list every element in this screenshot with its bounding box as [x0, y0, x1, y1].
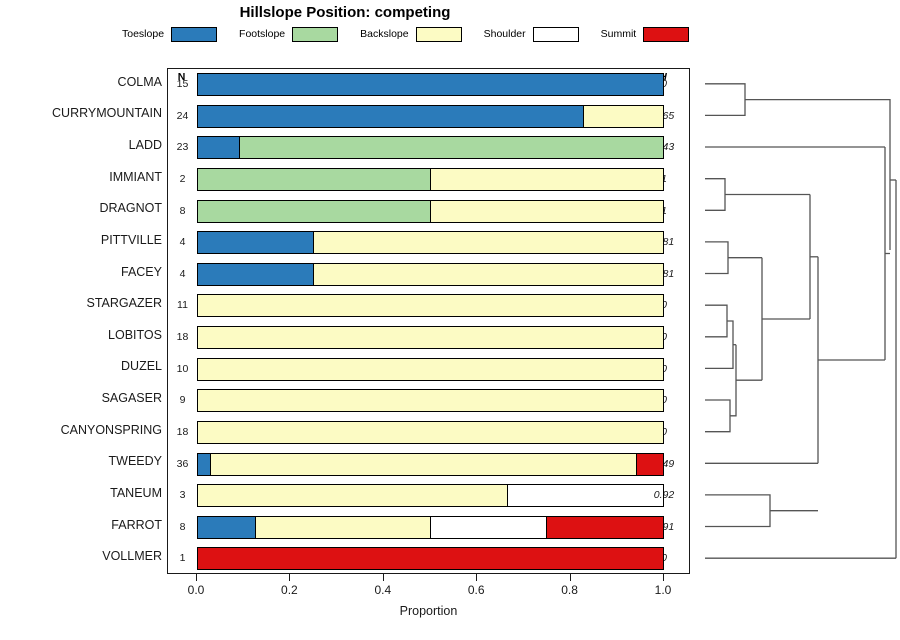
stacked-bar[interactable]: [197, 358, 664, 381]
bar-row: 90: [168, 385, 691, 417]
row-n-value: 3: [171, 489, 194, 501]
x-axis-tick: [570, 574, 571, 581]
bar-segment[interactable]: [198, 201, 431, 222]
legend-swatch: [643, 27, 689, 42]
stacked-bar[interactable]: [197, 231, 664, 254]
dendrogram-svg: [700, 60, 900, 580]
legend: ToeslopeFootslopeBackslopeShoulderSummit: [122, 24, 692, 44]
dendrogram: [700, 60, 900, 580]
bar-segment[interactable]: [431, 517, 547, 538]
y-axis-label: LADD: [0, 138, 162, 152]
x-axis-tick-label: 0.6: [451, 583, 501, 597]
stacked-bar[interactable]: [197, 105, 664, 128]
bar-segment[interactable]: [431, 201, 664, 222]
bar-segment[interactable]: [211, 454, 637, 475]
y-axis-label: TWEEDY: [0, 454, 162, 468]
bar-segment[interactable]: [198, 327, 663, 348]
stacked-bar[interactable]: [197, 294, 664, 317]
x-axis-tick: [196, 574, 197, 581]
bar-row: 180: [168, 322, 691, 354]
legend-swatch: [292, 27, 338, 42]
stacked-bar[interactable]: [197, 263, 664, 286]
bar-row: 30.92: [168, 480, 691, 512]
x-axis-title: Proportion: [167, 604, 690, 618]
legend-item: Summit: [601, 27, 690, 42]
bar-segment[interactable]: [198, 390, 663, 411]
row-n-value: 15: [171, 78, 194, 90]
legend-item: Toeslope: [122, 27, 217, 42]
y-axis-label: FACEY: [0, 265, 162, 279]
bar-segment[interactable]: [198, 137, 240, 158]
x-axis-tick: [383, 574, 384, 581]
bar-row: 10: [168, 543, 691, 575]
row-n-value: 8: [171, 205, 194, 217]
bar-segment[interactable]: [547, 517, 663, 538]
y-axis-label: SAGASER: [0, 391, 162, 405]
legend-swatch: [416, 27, 462, 42]
plot-panel: 150240.65230.43218140.8140.8111018010090…: [167, 68, 690, 574]
page-title: Hillslope Position: competing: [0, 4, 690, 21]
row-n-value: 23: [171, 141, 194, 153]
row-n-value: 8: [171, 521, 194, 533]
bar-row: 81.91: [168, 512, 691, 544]
bar-row: 21: [168, 164, 691, 196]
stacked-bar[interactable]: [197, 516, 664, 539]
y-axis-label: IMMIANT: [0, 170, 162, 184]
stacked-bar[interactable]: [197, 453, 664, 476]
chart-root: Hillslope Position: competing ToeslopeFo…: [0, 0, 900, 640]
x-axis-tick-label: 0.4: [358, 583, 408, 597]
row-n-value: 4: [171, 236, 194, 248]
stacked-bar[interactable]: [197, 136, 664, 159]
row-n-value: 1: [171, 552, 194, 564]
bar-segment[interactable]: [314, 264, 663, 285]
y-axis-label: CANYONSPRING: [0, 423, 162, 437]
stacked-bar[interactable]: [197, 547, 664, 570]
bar-segment[interactable]: [198, 485, 508, 506]
x-axis-tick-label: 0.0: [171, 583, 221, 597]
stacked-bar[interactable]: [197, 484, 664, 507]
bar-segment[interactable]: [198, 359, 663, 380]
row-n-value: 18: [171, 426, 194, 438]
bar-segment[interactable]: [584, 106, 663, 127]
bar-segment[interactable]: [198, 169, 431, 190]
bar-segment[interactable]: [198, 548, 663, 569]
y-axis-label: DRAGNOT: [0, 201, 162, 215]
row-n-value: 18: [171, 331, 194, 343]
y-axis-label: FARROT: [0, 518, 162, 532]
x-axis-tick: [663, 574, 664, 581]
row-n-value: 11: [171, 299, 194, 311]
stacked-bar[interactable]: [197, 168, 664, 191]
bar-segment[interactable]: [508, 485, 663, 506]
stacked-bar[interactable]: [197, 200, 664, 223]
y-axis-label: COLMA: [0, 75, 162, 89]
bar-segment[interactable]: [198, 517, 256, 538]
bar-row: 40.81: [168, 227, 691, 259]
y-axis-label: STARGAZER: [0, 296, 162, 310]
row-n-value: 2: [171, 173, 194, 185]
legend-item-label: Footslope: [239, 28, 285, 40]
bar-segment[interactable]: [431, 169, 664, 190]
bar-segment[interactable]: [637, 454, 663, 475]
row-n-value: 36: [171, 458, 194, 470]
legend-item: Footslope: [239, 27, 338, 42]
bar-segment[interactable]: [198, 422, 663, 443]
bar-row: 360.49: [168, 449, 691, 481]
y-axis-label: VOLLMER: [0, 549, 162, 563]
stacked-bar[interactable]: [197, 73, 664, 96]
legend-item-label: Shoulder: [484, 28, 526, 40]
y-axis-labels: COLMACURRYMOUNTAINLADDIMMIANTDRAGNOTPITT…: [0, 68, 162, 574]
legend-item-label: Backslope: [360, 28, 408, 40]
bar-segment[interactable]: [198, 232, 314, 253]
bar-segment[interactable]: [198, 454, 211, 475]
legend-item-label: Toeslope: [122, 28, 164, 40]
bar-row: 180: [168, 417, 691, 449]
legend-swatch: [171, 27, 217, 42]
bar-segment[interactable]: [198, 74, 663, 95]
bar-row: 40.81: [168, 259, 691, 291]
bar-segment[interactable]: [240, 137, 663, 158]
bar-row: 100: [168, 354, 691, 386]
bar-segment[interactable]: [314, 232, 663, 253]
legend-swatch: [533, 27, 579, 42]
stacked-bar[interactable]: [197, 421, 664, 444]
x-axis-tick-label: 0.8: [545, 583, 595, 597]
y-axis-label: TANEUM: [0, 486, 162, 500]
row-n-value: 4: [171, 268, 194, 280]
bar-row: 81: [168, 196, 691, 228]
x-axis-tick-label: 0.2: [264, 583, 314, 597]
legend-item-label: Summit: [601, 28, 637, 40]
y-axis-label: DUZEL: [0, 359, 162, 373]
legend-item: Shoulder: [484, 27, 579, 42]
legend-item: Backslope: [360, 27, 461, 42]
x-axis-tick-label: 1.0: [638, 583, 688, 597]
bar-row: 240.65: [168, 101, 691, 133]
row-n-value: 10: [171, 363, 194, 375]
bar-segment[interactable]: [198, 264, 314, 285]
y-axis-label: PITTVILLE: [0, 233, 162, 247]
y-axis-label: CURRYMOUNTAIN: [0, 106, 162, 120]
bar-segment[interactable]: [198, 106, 584, 127]
x-axis-tick: [476, 574, 477, 581]
bar-row: 230.43: [168, 132, 691, 164]
bar-row: 150: [168, 69, 691, 101]
x-axis-tick: [289, 574, 290, 581]
bar-segment[interactable]: [198, 295, 663, 316]
row-n-value: 9: [171, 394, 194, 406]
bar-rows: 150240.65230.43218140.8140.8111018010090…: [168, 69, 691, 575]
stacked-bar[interactable]: [197, 389, 664, 412]
y-axis-label: LOBITOS: [0, 328, 162, 342]
row-n-value: 24: [171, 110, 194, 122]
bar-row: 110: [168, 290, 691, 322]
bar-segment[interactable]: [256, 517, 430, 538]
stacked-bar[interactable]: [197, 326, 664, 349]
